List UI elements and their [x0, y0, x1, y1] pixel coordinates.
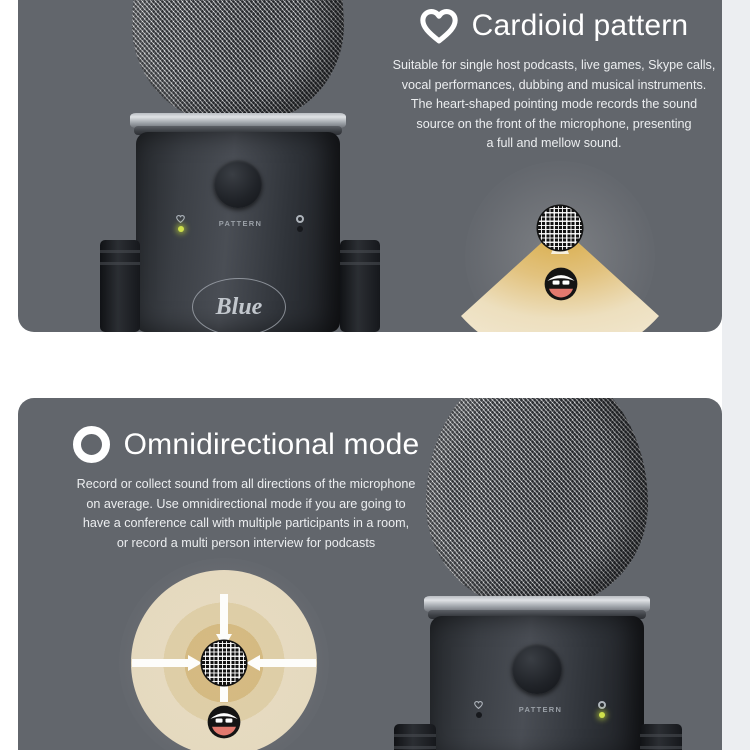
mini-heart-icon [176, 215, 185, 223]
omni-description: Record or collect sound from all directi… [46, 475, 446, 553]
circle-omni-icon [73, 426, 110, 463]
mini-ring-icon [296, 215, 304, 223]
omnidirectional-panel: Omnidirectional mode Record or collect s… [18, 398, 722, 750]
microphone-omni: PATTERN [388, 398, 688, 750]
cardioid-title: Cardioid pattern [472, 11, 689, 41]
pattern-indicator-row: PATTERN [474, 696, 606, 722]
omni-led [599, 712, 605, 718]
mini-ring-icon [598, 701, 606, 709]
right-edge-strip [722, 0, 750, 750]
mic-mute-knob[interactable] [512, 644, 562, 694]
mini-heart-icon [474, 701, 483, 709]
microphone-capsule-icon [202, 641, 246, 685]
mic-grille-icon [426, 398, 648, 608]
cardioid-pattern-diagram [455, 176, 665, 332]
cardioid-text-block: Cardioid pattern Suitable for single hos… [378, 8, 722, 154]
omni-text-block: Omnidirectional mode Record or collect s… [46, 426, 446, 553]
omni-title: Omnidirectional mode [124, 430, 420, 460]
mic-mute-knob[interactable] [214, 160, 262, 208]
yoke-arm-left [394, 724, 436, 750]
omni-led [297, 226, 303, 232]
yoke-arm-left [100, 240, 140, 332]
cardioid-description: Suitable for single host podcasts, live … [378, 56, 722, 154]
talking-head-icon [540, 262, 582, 304]
microphone-cardioid: PATTERN Blue [96, 0, 386, 332]
product-feature-image: PATTERN Blue [0, 0, 750, 750]
yoke-arm-right [640, 724, 682, 750]
mic-grille-icon [132, 0, 344, 124]
yoke-arm-right [340, 240, 380, 332]
cardioid-led [476, 712, 482, 718]
cardioid-heading-row: Cardioid pattern [378, 8, 722, 44]
talking-head-icon [203, 700, 245, 742]
cardioid-panel: PATTERN Blue [18, 0, 722, 332]
cardioid-led [178, 226, 184, 232]
heart-cardioid-icon [420, 8, 458, 44]
microphone-capsule-icon [538, 206, 582, 250]
brand-badge: Blue [192, 278, 286, 332]
pattern-label: PATTERN [219, 219, 262, 228]
brand-name: Blue [216, 294, 263, 321]
omni-heading-row: Omnidirectional mode [46, 426, 446, 463]
pattern-label: PATTERN [519, 705, 562, 714]
pattern-indicator-row: PATTERN [176, 210, 304, 236]
omnidirectional-pattern-diagram [118, 576, 330, 750]
